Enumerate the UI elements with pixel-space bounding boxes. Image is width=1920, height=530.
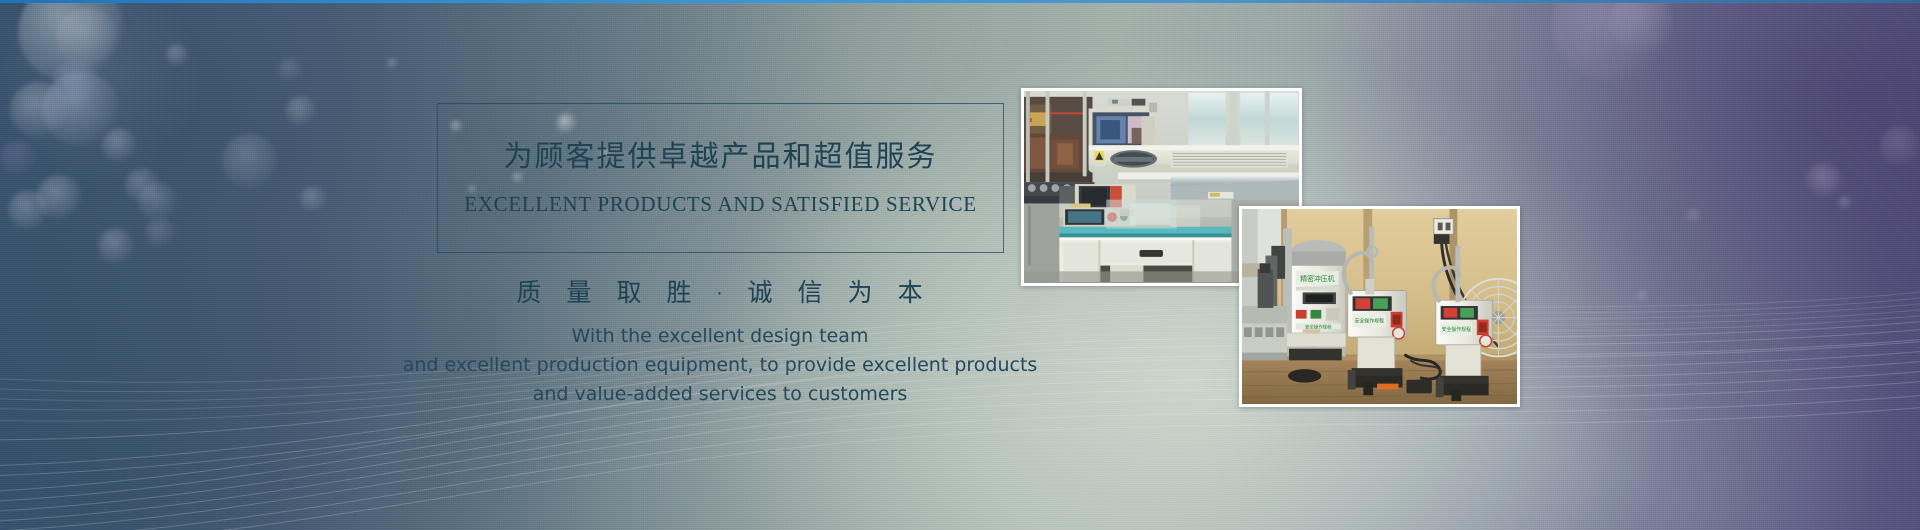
slogan-chinese: 质量取胜·诚信为本 xyxy=(400,273,1040,309)
slogan-char: 取 xyxy=(616,278,642,307)
description-line-1: With the excellent design team xyxy=(280,322,1160,351)
description-line-2: and excellent production equipment, to p… xyxy=(280,351,1160,380)
slogan-char: 为 xyxy=(848,278,874,307)
slogan-char: 量 xyxy=(566,278,592,307)
photo-2-illustration: 精密冲压机 安全操作规程 xyxy=(1242,209,1517,404)
slogan-char: 信 xyxy=(798,278,824,307)
top-accent-stripe xyxy=(0,0,1920,3)
slogan-char: 质 xyxy=(516,278,542,307)
slogan-char: 诚 xyxy=(748,278,774,307)
slogan-char: 胜 xyxy=(666,278,692,307)
slogan-text-block: 为顾客提供卓越产品和超值服务 EXCELLENT PRODUCTS AND SA… xyxy=(0,0,1100,530)
photo-bench-press-machines: 精密冲压机 安全操作规程 xyxy=(1239,206,1520,407)
headline-chinese: 为顾客提供卓越产品和超值服务 xyxy=(437,133,1004,175)
slogan-char: 本 xyxy=(898,278,924,307)
company-slogan-banner: 为顾客提供卓越产品和超值服务 EXCELLENT PRODUCTS AND SA… xyxy=(0,0,1920,530)
headline-border-box xyxy=(437,103,1004,253)
description-paragraph: With the excellent design team and excel… xyxy=(280,322,1160,409)
description-line-3: and value-added services to customers xyxy=(280,380,1160,409)
headline-english: EXCELLENT PRODUCTS AND SATISFIED SERVICE xyxy=(437,192,1004,217)
slogan-separator: · xyxy=(716,283,723,305)
